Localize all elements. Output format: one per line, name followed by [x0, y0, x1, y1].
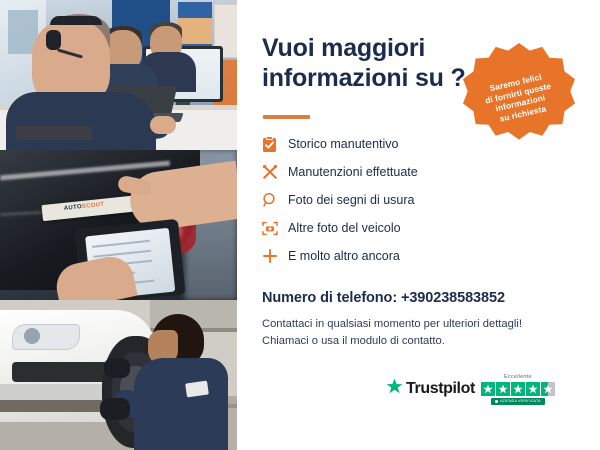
trustpilot-star-icon — [386, 378, 403, 400]
trustpilot-rating[interactable]: Trustpilot Eccellente AZIENDA VERIFICATA — [386, 374, 555, 405]
info-on-request-badge: Saremo felici di fornirti queste informa… — [463, 41, 575, 153]
vehicle-inspection-photo: AUTOSCOUT — [0, 150, 237, 300]
verified-label: AZIENDA VERIFICATA — [500, 399, 541, 403]
camera-focus-icon — [262, 221, 288, 236]
title-underline — [263, 115, 310, 119]
feature-item-manutenzioni-effettuate: Manutenzioni effettuate — [262, 158, 512, 186]
title-line-2: informazioni su ? — [262, 63, 477, 93]
star-4-icon — [526, 382, 540, 396]
badge-text: Saremo felici di fornirti queste informa… — [473, 68, 566, 128]
star-1-icon — [481, 382, 495, 396]
feature-label: Storico manutentivo — [288, 137, 398, 151]
contact-line-2: Chiamaci o usa il modulo di contatto. — [262, 333, 562, 350]
trustpilot-rating-label: Eccellente — [504, 374, 532, 380]
photo-column: AUTOSCOUT — [0, 0, 237, 450]
star-3-icon — [511, 382, 525, 396]
page-title: Vuoi maggiori informazioni su ? — [262, 33, 477, 93]
crossed-tools-icon — [262, 164, 288, 180]
feature-label: E molto altro ancora — [288, 249, 400, 263]
verified-business-badge: AZIENDA VERIFICATA — [491, 398, 545, 405]
feature-item-molto-altro: E molto altro ancora — [262, 242, 512, 270]
star-2-icon — [496, 382, 510, 396]
title-line-1: Vuoi maggiori — [262, 33, 477, 63]
mechanic-workshop-photo — [0, 300, 237, 450]
verified-check-icon — [495, 400, 498, 403]
feature-label: Foto dei segni di usura — [288, 193, 414, 207]
star-5-half-icon — [541, 382, 555, 396]
promo-banner: AUTOSCOUT Vuoi mag — [0, 0, 600, 450]
contact-text: Contattaci in qualsiasi momento per ulte… — [262, 316, 562, 350]
plus-icon — [262, 248, 288, 264]
feature-item-altre-foto-veicolo: Altre foto del veicolo — [262, 214, 512, 242]
clipboard-check-icon — [262, 136, 288, 153]
trustpilot-score-block: Eccellente AZIENDA VERIFICATA — [481, 374, 555, 405]
call-center-photo — [0, 0, 237, 150]
magnifier-icon — [262, 192, 288, 208]
phone-number[interactable]: Numero di telefono: +390238583852 — [262, 290, 505, 306]
trustpilot-logo: Trustpilot — [386, 378, 475, 400]
feature-item-foto-segni-usura: Foto dei segni di usura — [262, 186, 512, 214]
trustpilot-wordmark: Trustpilot — [406, 380, 475, 398]
contact-line-1: Contattaci in qualsiasi momento per ulte… — [262, 316, 562, 333]
feature-label: Manutenzioni effettuate — [288, 165, 418, 179]
feature-label: Altre foto del veicolo — [288, 221, 401, 235]
trustpilot-stars — [481, 382, 555, 396]
